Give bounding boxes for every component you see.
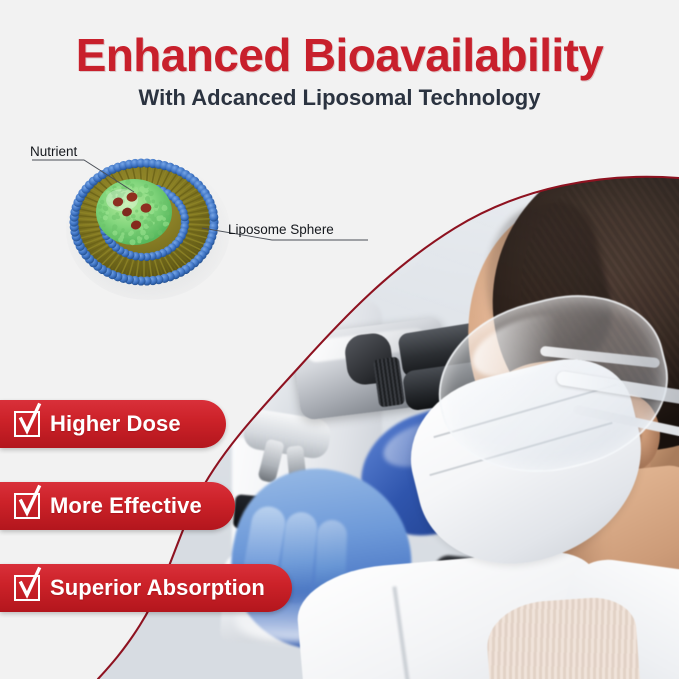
feature-badge-more-effective[interactable]: More Effective <box>0 482 235 530</box>
liposome-diagram: Nutrient Liposome Sphere <box>22 140 382 300</box>
check-glyph <box>18 487 44 519</box>
feature-badge-label: More Effective <box>50 493 202 519</box>
checkbox-check-icon <box>14 493 40 519</box>
liposome-label-nutrient: Nutrient <box>30 144 77 159</box>
checkbox-check-icon <box>14 411 40 437</box>
feature-badge-label: Superior Absorption <box>50 575 265 601</box>
liposome-label-sphere: Liposome Sphere <box>228 222 334 237</box>
feature-badge-superior-absorption[interactable]: Superior Absorption <box>0 564 292 612</box>
checkbox-check-icon <box>14 575 40 601</box>
liposome-illustration <box>22 140 382 300</box>
feature-badge-label: Higher Dose <box>50 411 181 437</box>
check-glyph <box>18 405 44 437</box>
feature-badge-higher-dose[interactable]: Higher Dose <box>0 400 226 448</box>
page-title: Enhanced Bioavailability <box>0 28 679 82</box>
check-glyph <box>18 569 44 601</box>
page-subtitle: With Adcanced Liposomal Technology <box>0 85 679 111</box>
poster-canvas: Enhanced Bioavailability With Adcanced L… <box>0 0 679 679</box>
